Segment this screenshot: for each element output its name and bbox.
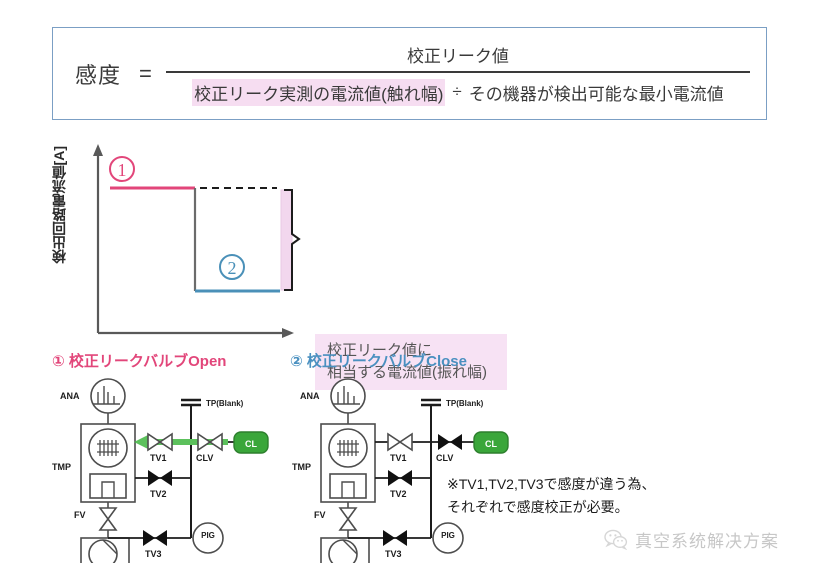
formula-box: 感度 = 校正リーク値 校正リーク実測の電流値(触れ幅) ÷ その機器が検出可能…: [52, 27, 767, 120]
svg-text:2: 2: [228, 258, 237, 278]
chart-delta-bar: [281, 190, 292, 290]
wechat-icon: [604, 529, 628, 550]
tv2-valve: [148, 470, 172, 486]
formula-inner: 感度 = 校正リーク値 校正リーク実測の電流値(触れ幅) ÷ その機器が検出可能…: [53, 28, 766, 119]
label-tv1: TV1: [150, 453, 167, 463]
footer-text: 真空系统解决方案: [635, 527, 779, 552]
label-fv: FV: [74, 510, 86, 520]
tv1-valve: [148, 434, 172, 450]
label-clv: CLV: [436, 453, 453, 463]
label-tv2: TV2: [390, 489, 407, 499]
label-tv1: TV1: [390, 453, 407, 463]
tv2-valve: [388, 470, 412, 486]
label-clv: CLV: [196, 453, 213, 463]
clv-valve: [438, 434, 462, 450]
tv3-valve: [383, 530, 407, 546]
formula-left-term: 感度: [75, 58, 121, 90]
denominator-divide-sign: ÷: [452, 82, 461, 102]
label-pig: PIG: [441, 531, 455, 540]
vacuum-schematic-open: ANA TMP FV FP TV1 TV2 TV3 CLV PIG CL TP(…: [48, 378, 308, 563]
label-fp: FP: [132, 562, 144, 563]
footer-watermark: 真空系统解决方案: [604, 527, 779, 552]
vacuum-diagram-open: ANA TMP FV FP TV1 TV2 TV3 CLV PIG CL TP(…: [48, 378, 308, 563]
label-tmp: TMP: [292, 462, 311, 472]
label-tp: TP(Blank): [206, 399, 244, 408]
label-cl: CL: [245, 439, 257, 449]
fv-valve: [340, 508, 356, 519]
clv-valve: [198, 434, 222, 450]
label-tv3: TV3: [145, 549, 162, 559]
section-heading-open: ① 校正リークバルブOpen: [52, 350, 226, 371]
chart-graphic: 1 2: [52, 138, 522, 338]
formula-numerator: 校正リーク値: [407, 42, 509, 71]
note-line-1: ※TV1,TV2,TV3で感度が違う為、: [447, 473, 747, 496]
denominator-second-term: その機器が検出可能な最小電流値: [469, 80, 724, 105]
tv1-valve: [388, 434, 412, 450]
label-tp: TP(Blank): [446, 399, 484, 408]
formula-denominator: 校正リーク実測の電流値(触れ幅) ÷ その機器が検出可能な最小電流値: [192, 73, 724, 106]
label-pig: PIG: [201, 531, 215, 540]
note-block: ※TV1,TV2,TV3で感度が違う為、 それぞれで感度校正が必要。: [447, 473, 747, 519]
formula-fraction: 校正リーク値 校正リーク実測の電流値(触れ幅) ÷ その機器が検出可能な最小電流…: [166, 42, 750, 106]
label-fp: FP: [372, 562, 384, 563]
note-line-2: それぞれで感度校正が必要。: [447, 496, 747, 519]
formula-equals-sign: =: [139, 61, 152, 87]
denominator-highlighted-term: 校正リーク実測の電流値(触れ幅): [192, 79, 445, 106]
chart-marker-one: 1: [110, 157, 134, 181]
tv3-valve: [143, 530, 167, 546]
chart-marker-two: 2: [220, 255, 244, 279]
fv-valve: [100, 508, 116, 519]
label-tv3: TV3: [385, 549, 402, 559]
label-tmp: TMP: [52, 462, 71, 472]
label-fv: FV: [314, 510, 326, 520]
section-heading-close: ② 校正リークバルブClose: [290, 350, 467, 371]
label-cl: CL: [485, 439, 497, 449]
vacuum-diagram-close: ANA TMP FV FP TV1 TV2 TV3 CLV PIG CL TP(…: [288, 378, 548, 563]
svg-text:1: 1: [118, 160, 127, 180]
label-tv2: TV2: [150, 489, 167, 499]
step-chart: 検出回路電流値[A] 1 2 校: [52, 138, 522, 338]
vacuum-schematic-close: ANA TMP FV FP TV1 TV2 TV3 CLV PIG CL TP(…: [288, 378, 548, 563]
label-ana: ANA: [300, 391, 320, 401]
label-ana: ANA: [60, 391, 80, 401]
